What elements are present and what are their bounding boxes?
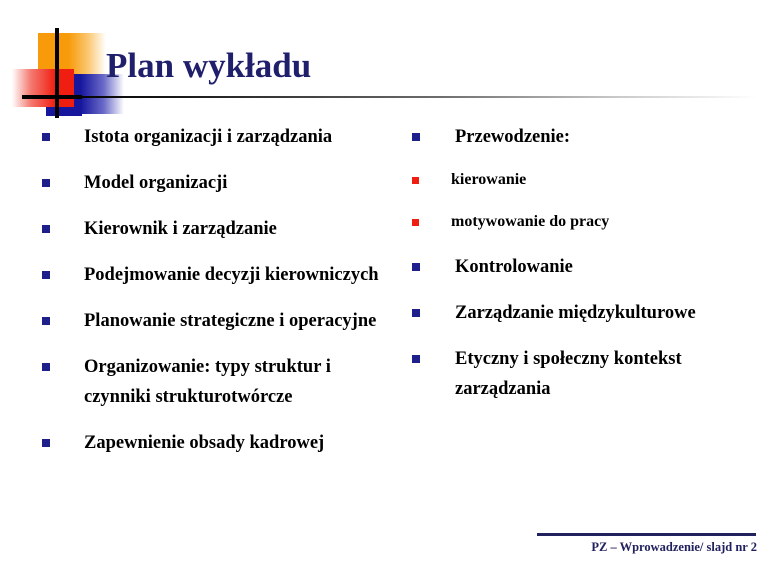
sub-list-item-label: kierowanie: [451, 171, 526, 188]
square-bullet-icon: [412, 133, 420, 141]
list-item-label: Etyczny i społeczny kontekst zarządzania: [455, 349, 682, 399]
list-item: Kierownik i zarządzanie: [34, 214, 394, 244]
list-item: Model organizacji: [34, 168, 394, 198]
list-item: Zarządzanie międzykulturowe: [404, 298, 754, 328]
list-item-label: Kierownik i zarządzanie: [84, 219, 277, 239]
square-bullet-icon: [42, 271, 50, 279]
list-item: Kontrolowanie: [404, 252, 754, 282]
list-item: Podejmowanie decyzji kierowniczych: [34, 260, 394, 290]
list-item: Istota organizacji i zarządzania: [34, 122, 394, 152]
square-sub-bullet-icon: [412, 177, 419, 184]
list-item-label: Planowanie strategiczne i operacyjne: [84, 311, 376, 331]
square-bullet-icon: [42, 317, 50, 325]
presentation-slide: Plan wykładu Istota organizacji i zarząd…: [0, 0, 760, 570]
sub-list-item: motywowanie do pracy: [404, 210, 754, 234]
square-bullet-icon: [412, 309, 420, 317]
left-bullet-column: Istota organizacji i zarządzania Model o…: [34, 122, 394, 474]
list-item: Organizowanie: typy struktur i czynniki …: [34, 352, 394, 412]
square-sub-bullet-icon: [412, 219, 419, 226]
square-bullet-icon: [42, 225, 50, 233]
square-bullet-icon: [412, 263, 420, 271]
title-divider: [57, 96, 757, 98]
list-item-label: Kontrolowanie: [455, 257, 573, 277]
logo-red-square: [12, 69, 74, 107]
list-item-label: Model organizacji: [84, 173, 227, 193]
list-item-label: Podejmowanie decyzji kierowniczych: [84, 265, 379, 285]
page-title: Plan wykładu: [106, 46, 311, 86]
square-bullet-icon: [412, 355, 420, 363]
sub-list-item-label: motywowanie do pracy: [451, 213, 609, 230]
square-bullet-icon: [42, 363, 50, 371]
list-item: Planowanie strategiczne i operacyjne: [34, 306, 394, 336]
sub-bullet-list: kierowanie motywowanie do pracy: [404, 168, 754, 234]
list-item-label: Organizowanie: typy struktur i czynniki …: [84, 357, 331, 407]
square-bullet-icon: [42, 179, 50, 187]
list-item-label: Zarządzanie międzykulturowe: [455, 303, 696, 323]
square-bullet-icon: [42, 439, 50, 447]
list-item-label: Przewodzenie:: [455, 127, 570, 147]
right-bullet-column: Przewodzenie: kierowanie motywowanie do …: [404, 122, 754, 420]
list-item-label: Zapewnienie obsady kadrowej: [84, 433, 324, 453]
list-item: Etyczny i społeczny kontekst zarządzania: [404, 344, 754, 404]
list-item-label: Istota organizacji i zarządzania: [84, 127, 332, 147]
footer-text: PZ – Wprowadzenie/ slajd nr 2: [437, 540, 757, 555]
list-item: Przewodzenie:: [404, 122, 754, 152]
list-item: Zapewnienie obsady kadrowej: [34, 428, 394, 458]
logo-vertical-line: [55, 28, 59, 118]
square-bullet-icon: [42, 133, 50, 141]
footer-divider: [537, 533, 756, 536]
sub-list-item: kierowanie: [404, 168, 754, 192]
